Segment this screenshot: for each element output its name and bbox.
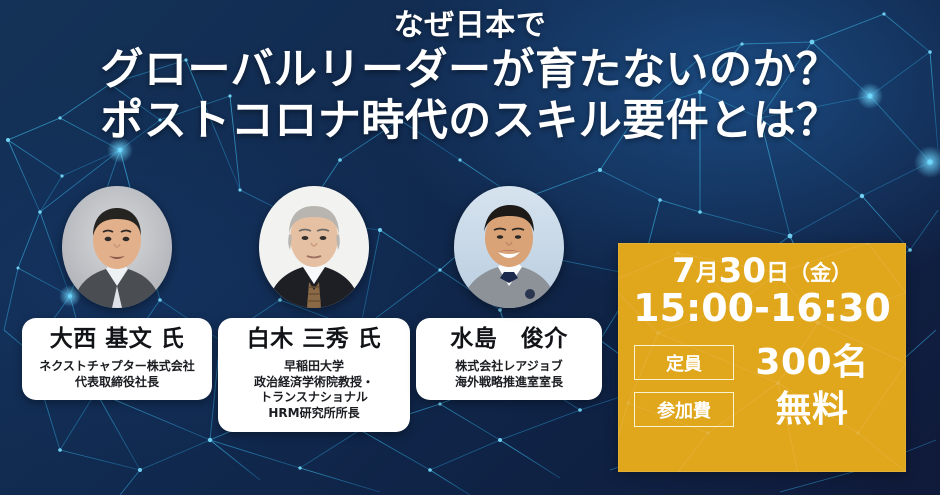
speaker-org-line: 株式会社レアジョブ bbox=[422, 359, 596, 375]
speaker-name-3: 水島 俊介 bbox=[422, 327, 596, 353]
speaker-org-line: 早稲田大学 bbox=[224, 359, 404, 375]
fee-value: 無料 bbox=[734, 392, 890, 428]
event-time: 15:00-16:30 bbox=[618, 289, 906, 329]
speaker-card-1: 大西 基文 氏 ネクストチャプター株式会社 代表取締役社長 bbox=[22, 186, 212, 400]
seminar-poster: なぜ日本で グローバルリーダーが育たないのか？ ポストコロナ時代のスキル要件とは… bbox=[0, 0, 940, 495]
speaker-org-line: トランスナショナル bbox=[224, 390, 404, 406]
speaker-card-2: 白木 三秀 氏 早稲田大学 政治経済学術院教授・ トランスナショナル HRM研究… bbox=[218, 186, 410, 432]
poster-title: なぜ日本で グローバルリーダーが育たないのか？ ポストコロナ時代のスキル要件とは… bbox=[0, 8, 940, 148]
speaker-card-3: 水島 俊介 株式会社レアジョブ 海外戦略推進室室長 bbox=[416, 186, 602, 400]
speaker-photo-wrap-2 bbox=[259, 186, 369, 308]
event-detail-rows: 定員 300名 参加費 無料 bbox=[618, 345, 906, 428]
speaker-org-line: 政治経済学術院教授・ bbox=[224, 375, 404, 391]
capacity-label: 定員 bbox=[634, 345, 734, 380]
speaker-photo-wrap-3 bbox=[454, 186, 564, 308]
event-date-day: 30 bbox=[719, 251, 766, 291]
speaker-namecard-1: 大西 基文 氏 ネクストチャプター株式会社 代表取締役社長 bbox=[22, 318, 212, 400]
event-date-month: 7 bbox=[672, 251, 696, 291]
speaker-org-line: ネクストチャプター株式会社 bbox=[28, 359, 206, 375]
event-date: 7月30日（金） bbox=[618, 251, 906, 291]
event-date-weekday: （金） bbox=[789, 261, 852, 285]
event-date-day-unit: 日 bbox=[766, 260, 789, 286]
speaker-org-1: ネクストチャプター株式会社 代表取締役社長 bbox=[28, 359, 206, 391]
speaker-photo-2 bbox=[259, 186, 369, 308]
event-info-panel: 7月30日（金） 15:00-16:30 定員 300名 参加費 無料 bbox=[618, 243, 906, 472]
fee-label: 参加費 bbox=[634, 392, 734, 427]
speaker-org-line: HRM研究所所長 bbox=[224, 406, 404, 422]
event-detail-row-fee: 参加費 無料 bbox=[634, 392, 890, 428]
speaker-namecard-3: 水島 俊介 株式会社レアジョブ 海外戦略推進室室長 bbox=[416, 318, 602, 400]
speaker-org-3: 株式会社レアジョブ 海外戦略推進室室長 bbox=[422, 359, 596, 391]
speaker-photo-3 bbox=[454, 186, 564, 308]
event-date-month-unit: 月 bbox=[696, 260, 719, 286]
event-detail-row-capacity: 定員 300名 bbox=[634, 345, 890, 381]
speaker-org-line: 海外戦略推進室室長 bbox=[422, 375, 596, 391]
speaker-org-2: 早稲田大学 政治経済学術院教授・ トランスナショナル HRM研究所所長 bbox=[224, 359, 404, 422]
speaker-name-2: 白木 三秀 氏 bbox=[224, 327, 404, 353]
speaker-photo-1 bbox=[62, 186, 172, 308]
title-line-3: ポストコロナ時代のスキル要件とは？ bbox=[0, 96, 940, 148]
speaker-list: 大西 基文 氏 ネクストチャプター株式会社 代表取締役社長 bbox=[0, 186, 620, 476]
title-line-1: なぜ日本で bbox=[0, 8, 940, 45]
capacity-value: 300名 bbox=[734, 345, 890, 381]
speaker-org-line: 代表取締役社長 bbox=[28, 375, 206, 391]
speaker-namecard-2: 白木 三秀 氏 早稲田大学 政治経済学術院教授・ トランスナショナル HRM研究… bbox=[218, 318, 410, 432]
speaker-name-1: 大西 基文 氏 bbox=[28, 327, 206, 353]
title-line-2: グローバルリーダーが育たないのか？ bbox=[0, 45, 940, 97]
speaker-photo-wrap-1 bbox=[62, 186, 172, 308]
